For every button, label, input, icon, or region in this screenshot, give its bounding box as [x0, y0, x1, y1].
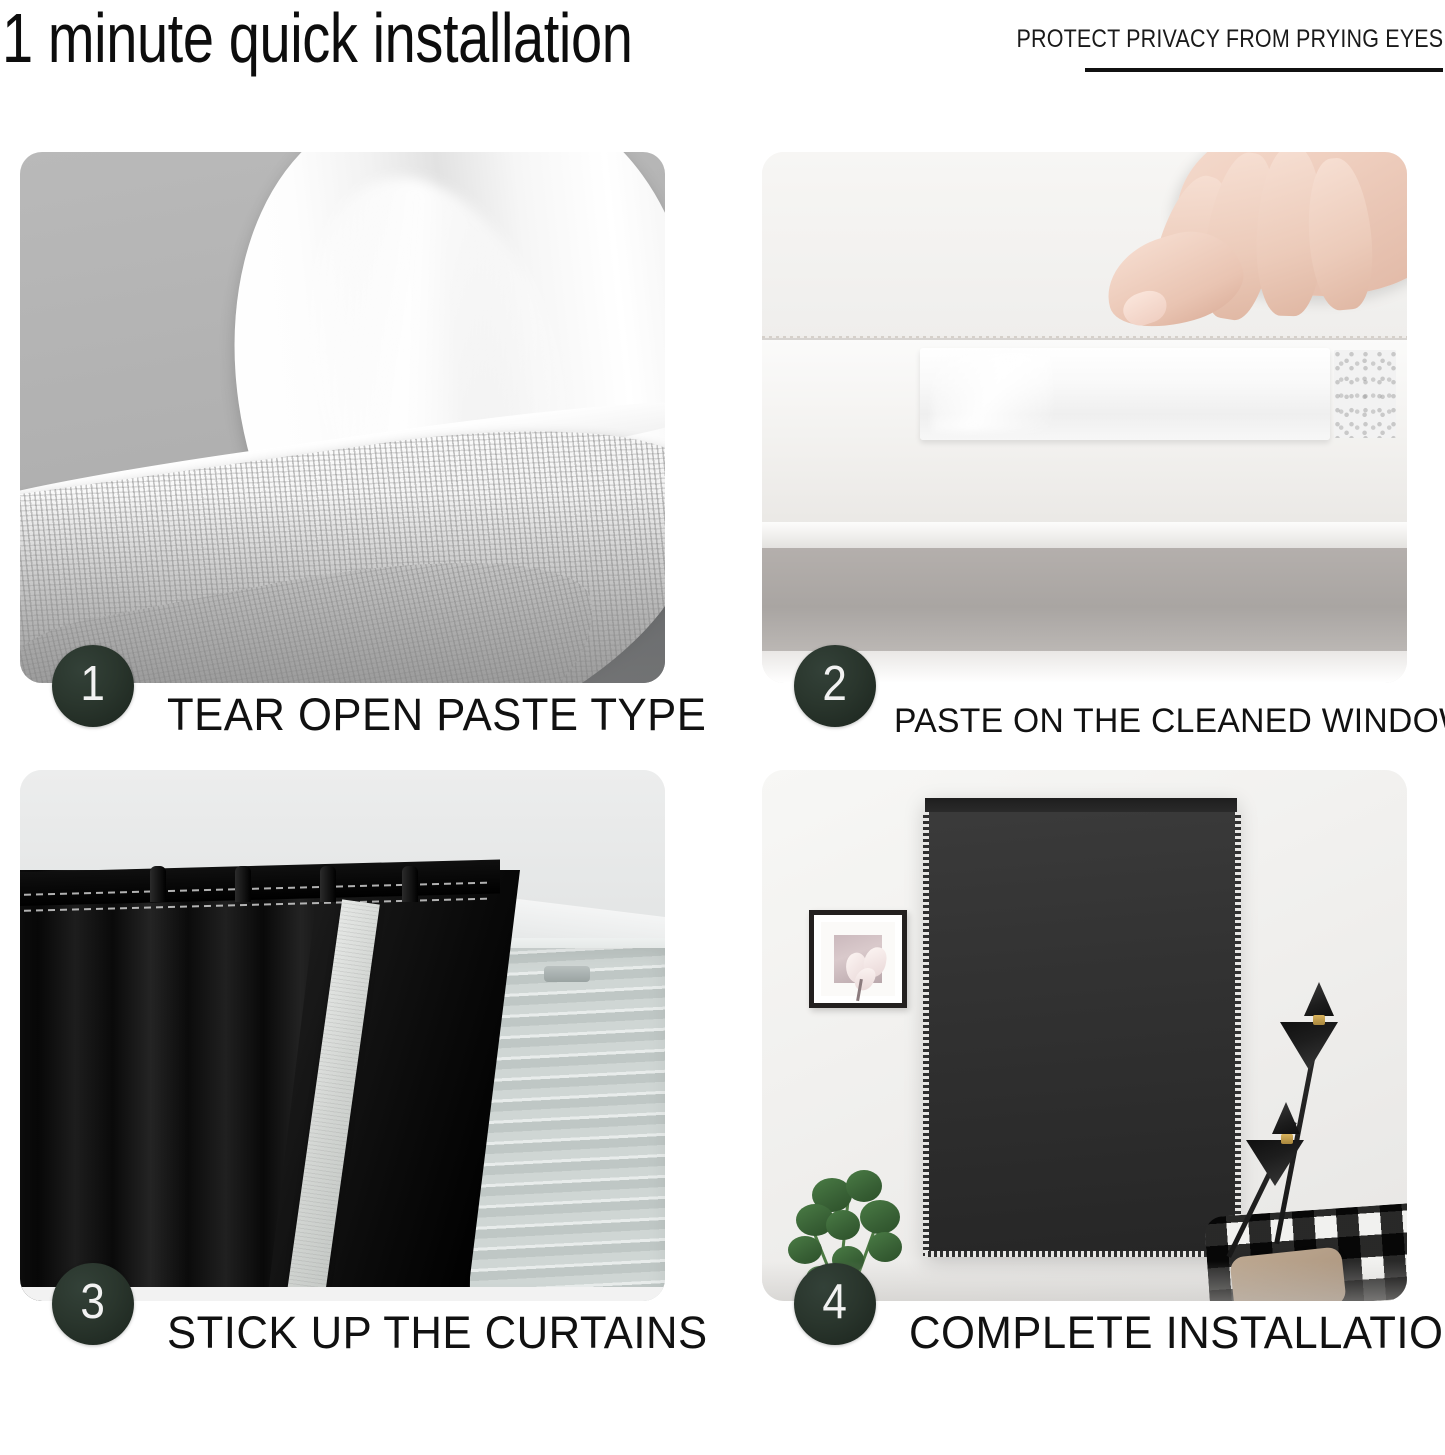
- tagline-divider: [1085, 68, 1443, 72]
- photo4-curtain-headrail: [925, 798, 1237, 812]
- tagline-text: PROTECT PRIVACY FROM PRYING EYES: [1016, 24, 1443, 54]
- photo3-pleat-3: [320, 866, 336, 902]
- infographic-root: 1 minute quick installation PROTECT PRIV…: [0, 0, 1445, 1455]
- step-card-4: 4 COMPLETE INSTALLATION: [762, 770, 1407, 1388]
- step-number-4: 4: [823, 1278, 848, 1327]
- step-card-3: 3 STICK UP THE CURTAINS: [20, 770, 665, 1388]
- photo4-lamp-joint-2: [1281, 1134, 1293, 1144]
- photo4-leaf-6: [788, 1236, 822, 1264]
- photo2-window-sill: [762, 522, 1407, 550]
- step-caption-row-3: 3 STICK UP THE CURTAINS: [20, 1301, 720, 1388]
- step-number-3: 3: [81, 1278, 106, 1327]
- photo4-lamp-joint-1: [1313, 1015, 1325, 1025]
- step-caption-row-2: 2 PASTE ON THE CLEANED WINDOW FRAME: [762, 683, 1445, 770]
- step-badge-4: 4: [794, 1263, 876, 1345]
- step-badge-2: 2: [794, 645, 876, 727]
- step-caption-2: PASTE ON THE CLEANED WINDOW FRAME: [894, 695, 1445, 747]
- photo4-art-image: [834, 935, 882, 983]
- photo4-art-mat: [821, 922, 895, 996]
- step-card-2: 2 PASTE ON THE CLEANED WINDOW FRAME: [762, 152, 1407, 770]
- step-photo-1: [20, 152, 665, 683]
- photo4-leaf-4: [860, 1200, 900, 1234]
- step-card-1: 1 TEAR OPEN PASTE TYPE: [20, 152, 665, 770]
- photo4-leaf-5: [826, 1210, 860, 1240]
- step-number-2: 2: [823, 660, 848, 709]
- photo4-framed-artwork: [809, 910, 907, 1008]
- photo3-pleat-1: [150, 866, 166, 902]
- photo4-leaf-2: [846, 1170, 882, 1202]
- header: 1 minute quick installation PROTECT PRIV…: [0, 0, 1445, 120]
- step-photo-3: [20, 770, 665, 1301]
- step-badge-1: 1: [52, 645, 134, 727]
- photo4-leaf-7: [868, 1232, 902, 1262]
- photo3-pleat-4: [402, 866, 418, 902]
- step-badge-3: 3: [52, 1263, 134, 1345]
- photo2-hand: [1057, 152, 1407, 391]
- step-caption-1: TEAR OPEN PASTE TYPE: [167, 689, 706, 741]
- photo4-curtain-edge-bottom: [925, 1251, 1237, 1257]
- photo3-pleat-2: [235, 866, 251, 902]
- photo4-blackout-curtain: [925, 798, 1237, 1256]
- step-caption-row-1: 1 TEAR OPEN PASTE TYPE: [20, 683, 720, 770]
- page-title: 1 minute quick installation: [2, 0, 632, 78]
- tagline-block: PROTECT PRIVACY FROM PRYING EYES: [947, 24, 1443, 72]
- step-number-1: 1: [81, 660, 106, 709]
- step-caption-row-4: 4 COMPLETE INSTALLATION: [762, 1301, 1445, 1388]
- step-photo-4: [762, 770, 1407, 1301]
- step-caption-4: COMPLETE INSTALLATION: [909, 1307, 1445, 1359]
- step-caption-3: STICK UP THE CURTAINS: [167, 1307, 708, 1359]
- step-photo-2: [762, 152, 1407, 683]
- photo2-grey-wall-band: [762, 548, 1407, 656]
- photo3-blinds-bracket: [544, 966, 590, 982]
- steps-grid: 1 TEAR OPEN PASTE TYPE: [0, 152, 1445, 1392]
- photo4-curtain-edge-right: [1235, 812, 1241, 1256]
- photo2-tape-highlight: [932, 352, 1052, 432]
